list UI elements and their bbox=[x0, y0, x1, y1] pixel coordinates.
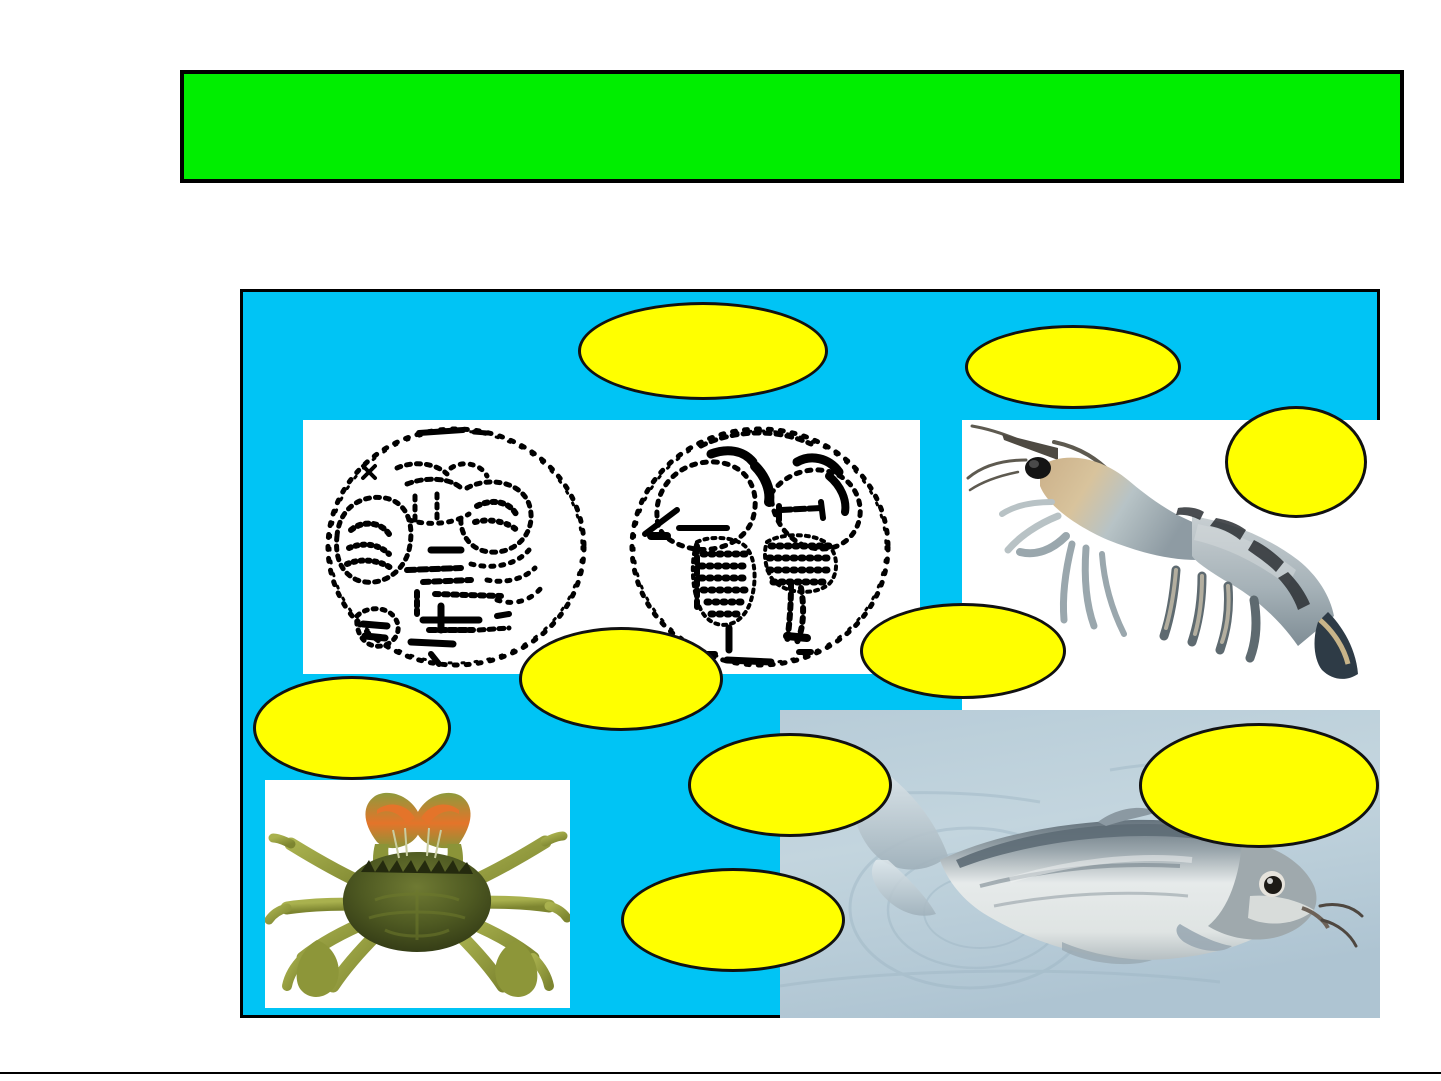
label-3[interactable] bbox=[1225, 406, 1367, 518]
label-9[interactable] bbox=[621, 868, 845, 972]
label-5[interactable] bbox=[519, 627, 723, 731]
diagram-panel bbox=[240, 289, 1380, 1018]
label-8[interactable] bbox=[1139, 723, 1379, 848]
label-6[interactable] bbox=[253, 676, 451, 780]
label-7[interactable] bbox=[688, 733, 892, 837]
label-2[interactable] bbox=[965, 325, 1181, 409]
mud-crab-photo bbox=[265, 780, 570, 1008]
larvae-microscopy-left-image bbox=[311, 424, 601, 670]
mud-crab-image bbox=[265, 780, 570, 1008]
slide-title-banner bbox=[180, 70, 1404, 183]
footer-divider bbox=[0, 1072, 1441, 1074]
label-1[interactable] bbox=[578, 302, 828, 400]
label-4[interactable] bbox=[860, 603, 1066, 699]
